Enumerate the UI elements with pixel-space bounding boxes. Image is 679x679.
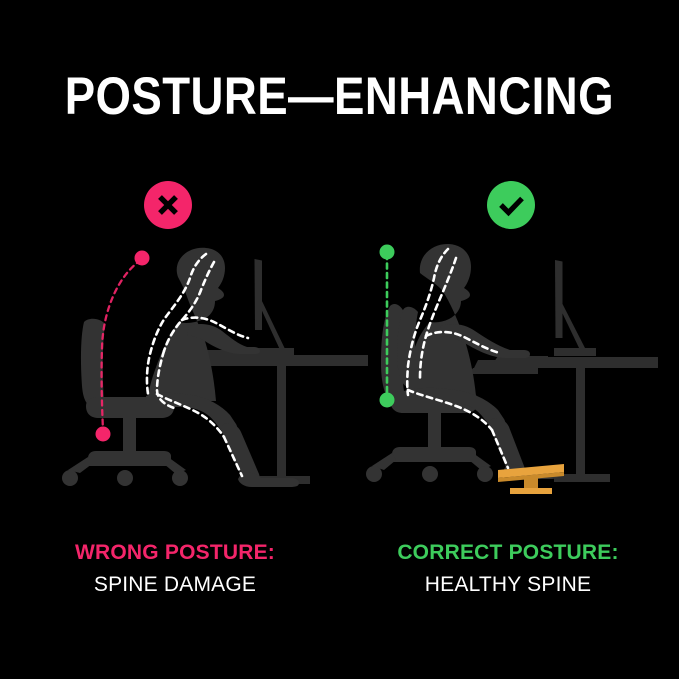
status-badge-correct [487,181,535,229]
monitor-foot [554,348,596,356]
desk-top [193,355,368,366]
chair-caster-mid [117,470,133,486]
status-badge-wrong [144,181,192,229]
caption-wrong-subtext: SPINE DAMAGE [10,571,340,598]
monitor-screen [255,259,263,330]
chair-caster-right [172,470,188,486]
caption-wrong-posture: WRONG POSTURE: SPINE DAMAGE [10,540,340,598]
spine-marker-dot-top [380,245,395,260]
caption-wrong-heading: WRONG POSTURE: [10,540,340,567]
poster-title-row: POSTURE—ENHANCING [0,70,679,123]
caption-correct-subtext: HEALTHY SPINE [343,571,673,598]
caption-correct-heading: CORRECT POSTURE: [343,540,673,567]
illustration-correct-posture [348,238,658,513]
caption-correct-posture: CORRECT POSTURE: HEALTHY SPINE [343,540,673,598]
cross-mark-icon [144,181,192,229]
spine-marker-dot-bottom [380,393,395,408]
chair-caster-mid [422,466,438,482]
person-head-and-back [148,248,225,401]
person-silhouette-slouched [146,248,299,487]
desk-leg [576,368,585,478]
monitor-screen [555,260,563,338]
chair-caster-right [477,466,493,482]
monitor-foot [254,348,294,355]
check-mark-icon [487,181,535,229]
desk-leg [277,366,286,481]
desk-and-monitor-group [469,260,658,482]
footrest-base [510,488,552,494]
chair-base [88,451,171,466]
keyboard-tray [469,368,538,374]
poster-canvas: POSTURE—ENHANCING [0,0,679,679]
spine-marker-dot-bottom [96,427,111,442]
spine-marker-dot-top [135,251,150,266]
page-title: POSTURE—ENHANCING [65,70,614,123]
illustration-wrong-posture [58,238,368,513]
chair-caster-left [366,466,382,482]
chair-base [392,447,476,462]
person-shoe [238,473,299,487]
chair-caster-left [62,470,78,486]
